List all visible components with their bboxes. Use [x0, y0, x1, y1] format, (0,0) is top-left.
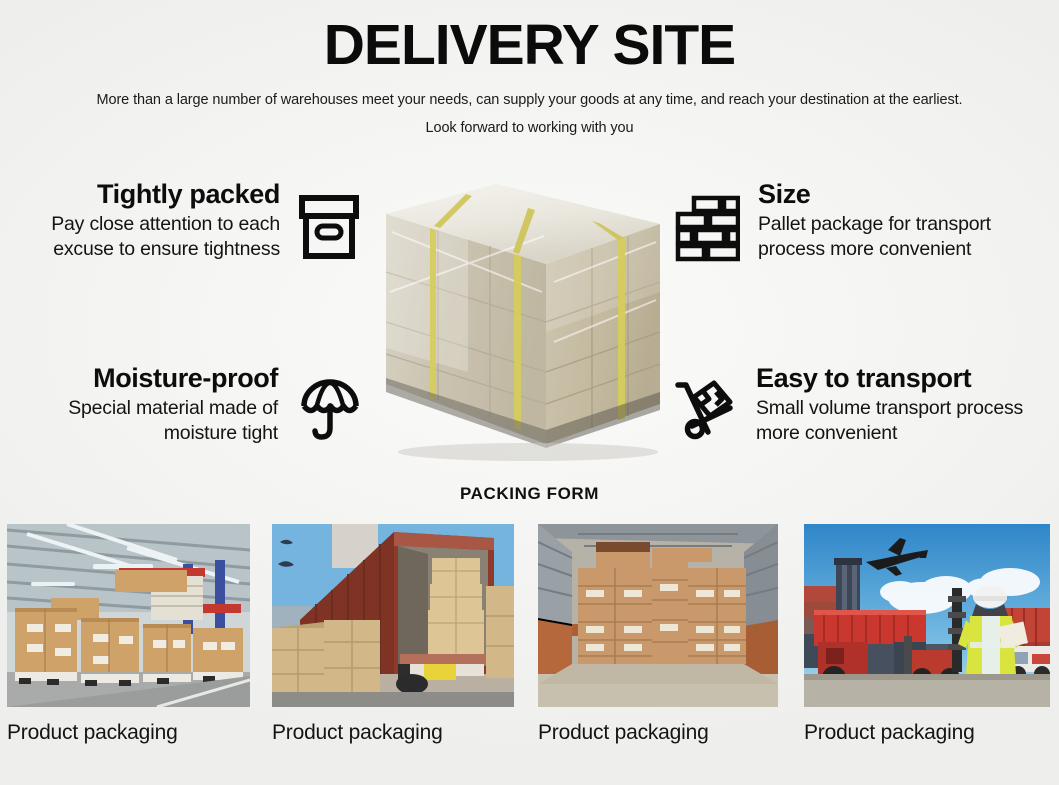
- feature-heading: Moisture-proof: [0, 362, 278, 394]
- feature-heading: Tightly packed: [0, 178, 280, 210]
- page-background: DELIVERY SITE More than a large number o…: [0, 0, 1059, 785]
- page-title: DELIVERY SITE: [0, 14, 1059, 76]
- page-subtitle-line1: More than a large number of warehouses m…: [0, 90, 1059, 110]
- feature-body: Small volume transport process more conv…: [756, 396, 1059, 446]
- gallery-photo-container-interior[interactable]: [538, 524, 778, 707]
- gallery-photo-container-yard[interactable]: [804, 524, 1050, 707]
- gallery-caption: Product packaging: [538, 720, 709, 746]
- hand-truck-icon: [672, 374, 742, 449]
- gallery-caption: Product packaging: [804, 720, 975, 746]
- feature-easy-to-transport: Easy to transport Small volume transport…: [672, 362, 1059, 449]
- feature-body: Pay close attention to each excuse to en…: [0, 212, 280, 262]
- wrapped-pallet-image: [378, 172, 668, 464]
- feature-size: Size Pallet package for transport proces…: [672, 178, 1059, 267]
- gallery-caption: Product packaging: [7, 720, 178, 746]
- brick-wall-icon: [672, 192, 740, 267]
- archive-box-icon: [298, 192, 360, 267]
- feature-heading: Easy to transport: [756, 362, 1059, 394]
- gallery-photo-warehouse[interactable]: [7, 524, 250, 707]
- feature-moisture-proof: Moisture-proof Special material made of …: [0, 362, 360, 447]
- gallery-item[interactable]: Product packaging: [804, 524, 1047, 707]
- gallery-item[interactable]: Product packaging: [538, 524, 781, 707]
- umbrella-icon: [300, 374, 360, 447]
- feature-heading: Size: [758, 178, 1059, 210]
- gallery-photo-container-loading[interactable]: [272, 524, 514, 707]
- gallery-item[interactable]: Product packaging: [7, 524, 250, 707]
- feature-body: Pallet package for transport process mor…: [758, 212, 1059, 262]
- page-subtitle-line2: Look forward to working with you: [0, 118, 1059, 138]
- packing-form-heading: PACKING FORM: [0, 484, 1059, 504]
- feature-tightly-packed: Tightly packed Pay close attention to ea…: [0, 178, 360, 267]
- feature-body: Special material made of moisture tight: [0, 396, 278, 446]
- gallery-row: Product packaging: [0, 524, 1059, 714]
- gallery-caption: Product packaging: [272, 720, 443, 746]
- gallery-item[interactable]: Product packaging: [272, 524, 515, 707]
